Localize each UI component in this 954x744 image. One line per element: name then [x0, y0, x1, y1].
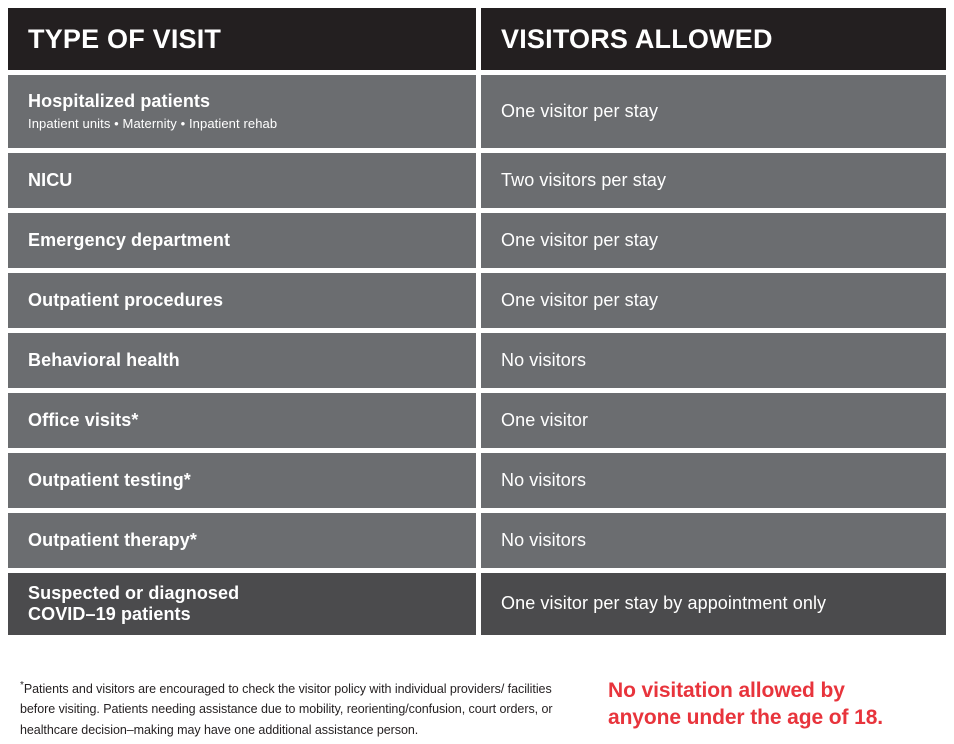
- table-row: Behavioral health No visitors: [8, 333, 946, 388]
- table-row: Outpatient testing* No visitors: [8, 453, 946, 508]
- type-of-visit-label: Outpatient therapy*: [28, 530, 456, 551]
- type-of-visit-label-line1: Suspected or diagnosed: [28, 583, 456, 604]
- table-row: Outpatient procedures One visitor per st…: [8, 273, 946, 328]
- age-restriction-warning-line1: No visitation allowed by: [608, 678, 954, 705]
- type-of-visit-label-line2: COVID–19 patients: [28, 604, 456, 625]
- age-restriction-warning: No visitation allowed by anyone under th…: [580, 668, 954, 732]
- footnote-body: Patients and visitors are encouraged to …: [20, 682, 553, 737]
- visitor-policy-table: TYPE OF VISIT VISITORS ALLOWED Hospitali…: [8, 8, 946, 635]
- visitors-allowed-label: One visitor per stay: [501, 230, 926, 252]
- table-row: Office visits* One visitor: [8, 393, 946, 448]
- visitors-allowed-label: One visitor per stay by appointment only: [501, 593, 926, 615]
- cell-visitors-allowed: No visitors: [481, 333, 946, 388]
- visitors-allowed-label: One visitor per stay: [501, 101, 926, 123]
- footnote-text: *Patients and visitors are encouraged to…: [0, 668, 580, 740]
- cell-type-of-visit: Outpatient therapy*: [8, 513, 476, 568]
- footer: *Patients and visitors are encouraged to…: [0, 668, 954, 744]
- cell-type-of-visit: NICU: [8, 153, 476, 208]
- visitors-allowed-label: One visitor per stay: [501, 290, 926, 312]
- visitor-policy-page: TYPE OF VISIT VISITORS ALLOWED Hospitali…: [0, 0, 954, 744]
- cell-type-of-visit: Office visits*: [8, 393, 476, 448]
- cell-visitors-allowed: One visitor per stay: [481, 273, 946, 328]
- visitors-allowed-label: No visitors: [501, 470, 926, 492]
- column-header-visitors-allowed-label: VISITORS ALLOWED: [501, 25, 926, 53]
- table-row: Emergency department One visitor per sta…: [8, 213, 946, 268]
- type-of-visit-label: NICU: [28, 170, 456, 191]
- cell-type-of-visit: Emergency department: [8, 213, 476, 268]
- cell-type-of-visit: Outpatient procedures: [8, 273, 476, 328]
- visitors-allowed-label: One visitor: [501, 410, 926, 432]
- table-row: Outpatient therapy* No visitors: [8, 513, 946, 568]
- column-header-visitors-allowed: VISITORS ALLOWED: [481, 8, 946, 70]
- table-header-row: TYPE OF VISIT VISITORS ALLOWED: [8, 8, 946, 70]
- cell-visitors-allowed: No visitors: [481, 513, 946, 568]
- cell-visitors-allowed: One visitor per stay by appointment only: [481, 573, 946, 635]
- cell-visitors-allowed: Two visitors per stay: [481, 153, 946, 208]
- type-of-visit-label: Outpatient testing*: [28, 470, 456, 491]
- table-row: NICU Two visitors per stay: [8, 153, 946, 208]
- cell-visitors-allowed: One visitor: [481, 393, 946, 448]
- cell-visitors-allowed: One visitor per stay: [481, 213, 946, 268]
- cell-type-of-visit: Outpatient testing*: [8, 453, 476, 508]
- visitors-allowed-label: No visitors: [501, 350, 926, 372]
- cell-visitors-allowed: One visitor per stay: [481, 75, 946, 148]
- type-of-visit-subtitle: Inpatient units • Maternity • Inpatient …: [28, 116, 456, 132]
- column-header-type-of-visit-label: TYPE OF VISIT: [28, 25, 456, 53]
- type-of-visit-label: Emergency department: [28, 230, 456, 251]
- cell-type-of-visit: Behavioral health: [8, 333, 476, 388]
- visitors-allowed-label: No visitors: [501, 530, 926, 552]
- age-restriction-warning-line2: anyone under the age of 18.: [608, 705, 954, 732]
- type-of-visit-label: Hospitalized patients: [28, 91, 456, 112]
- visitors-allowed-label: Two visitors per stay: [501, 170, 926, 192]
- cell-visitors-allowed: No visitors: [481, 453, 946, 508]
- type-of-visit-label: Behavioral health: [28, 350, 456, 371]
- type-of-visit-label: Office visits*: [28, 410, 456, 431]
- cell-type-of-visit: Hospitalized patients Inpatient units • …: [8, 75, 476, 148]
- column-header-type-of-visit: TYPE OF VISIT: [8, 8, 476, 70]
- table-row: Hospitalized patients Inpatient units • …: [8, 75, 946, 148]
- type-of-visit-label: Outpatient procedures: [28, 290, 456, 311]
- table-row: Suspected or diagnosed COVID–19 patients…: [8, 573, 946, 635]
- cell-type-of-visit: Suspected or diagnosed COVID–19 patients: [8, 573, 476, 635]
